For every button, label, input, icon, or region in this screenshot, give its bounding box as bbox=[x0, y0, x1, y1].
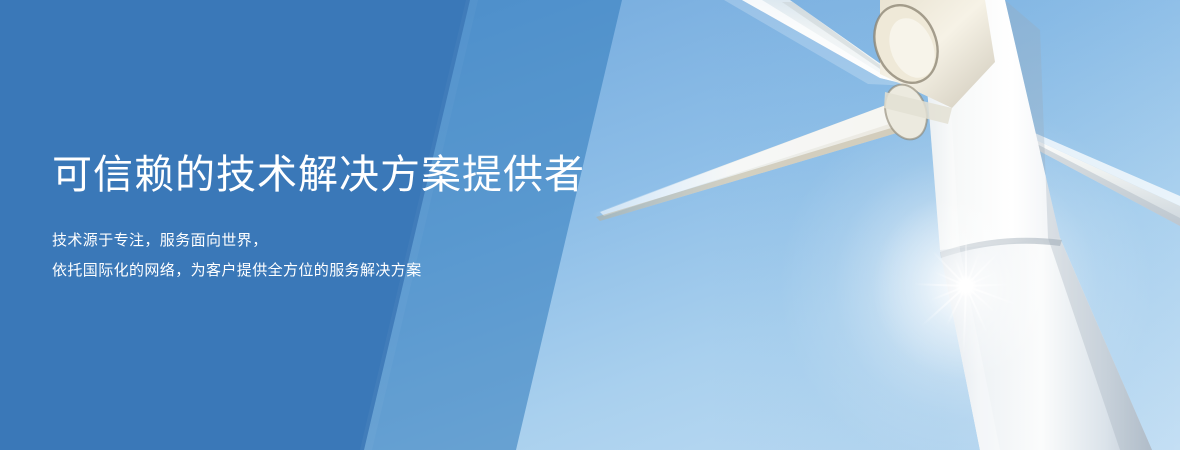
subtitle-line-1: 技术源于专注，服务面向世界， bbox=[52, 226, 612, 256]
hero-banner: 可信赖的技术解决方案提供者 技术源于专注，服务面向世界， 依托国际化的网络，为客… bbox=[0, 0, 1180, 450]
hero-copy: 可信赖的技术解决方案提供者 技术源于专注，服务面向世界， 依托国际化的网络，为客… bbox=[52, 150, 612, 286]
hero-subtitle: 技术源于专注，服务面向世界， 依托国际化的网络，为客户提供全方位的服务解决方案 bbox=[52, 200, 612, 286]
subtitle-line-2: 依托国际化的网络，为客户提供全方位的服务解决方案 bbox=[52, 256, 612, 286]
blade-lower-left bbox=[592, 98, 908, 221]
sun-core bbox=[955, 275, 977, 297]
page-title: 可信赖的技术解决方案提供者 bbox=[52, 150, 612, 200]
